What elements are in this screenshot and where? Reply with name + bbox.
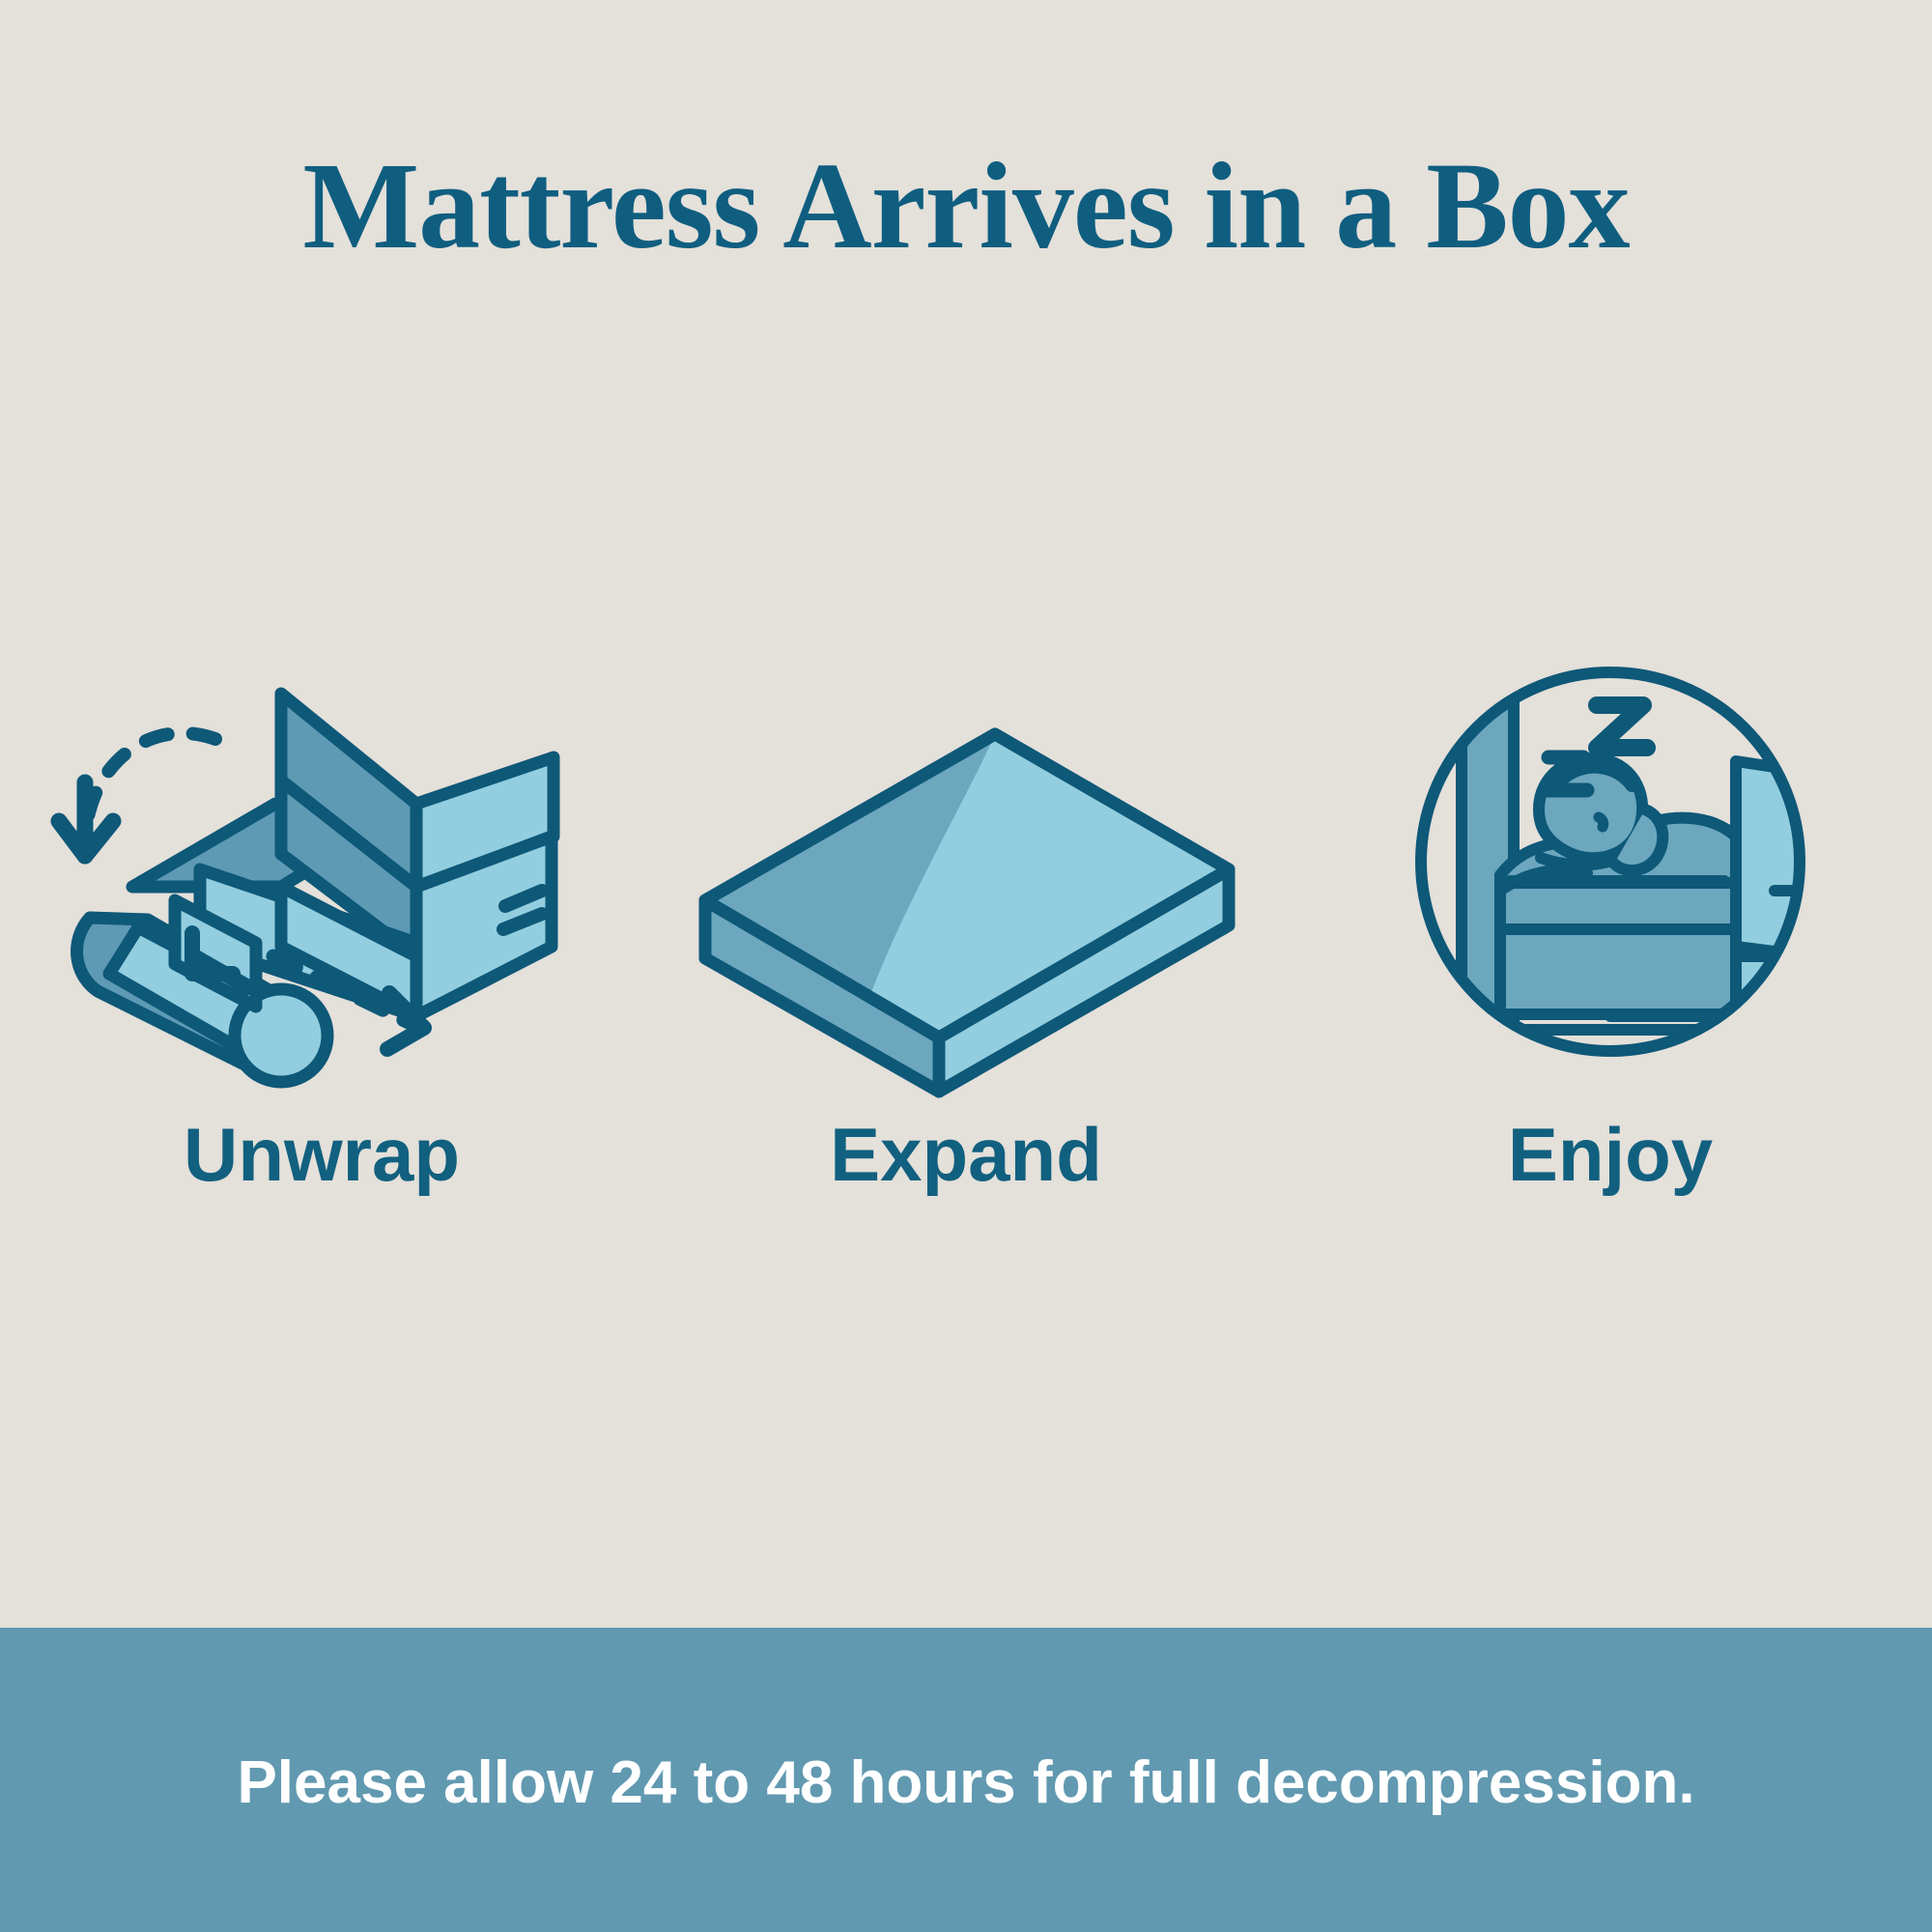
step-expand: Expand	[644, 638, 1288, 1198]
infographic-page: Mattress Arrives in a Box	[0, 0, 1932, 1932]
person-sleeping-in-bed-icon	[1321, 638, 1900, 1101]
box-with-rolled-mattress-icon	[32, 638, 611, 1101]
step-expand-art	[676, 638, 1256, 1101]
step-label-unwrap: Unwrap	[184, 1111, 460, 1198]
step-enjoy-art	[1321, 638, 1900, 1101]
flat-mattress-icon	[676, 638, 1256, 1101]
step-label-enjoy: Enjoy	[1508, 1111, 1713, 1198]
steps-row: Unwrap	[0, 638, 1932, 1314]
step-enjoy: Enjoy	[1289, 638, 1932, 1198]
page-title: Mattress Arrives in a Box	[0, 133, 1932, 278]
step-unwrap: Unwrap	[0, 638, 643, 1198]
step-unwrap-art	[32, 638, 611, 1101]
footer-banner: Please allow 24 to 48 hours for full dec…	[0, 1628, 1932, 1932]
decompression-notice: Please allow 24 to 48 hours for full dec…	[237, 1748, 1694, 1818]
step-label-expand: Expand	[830, 1111, 1102, 1198]
